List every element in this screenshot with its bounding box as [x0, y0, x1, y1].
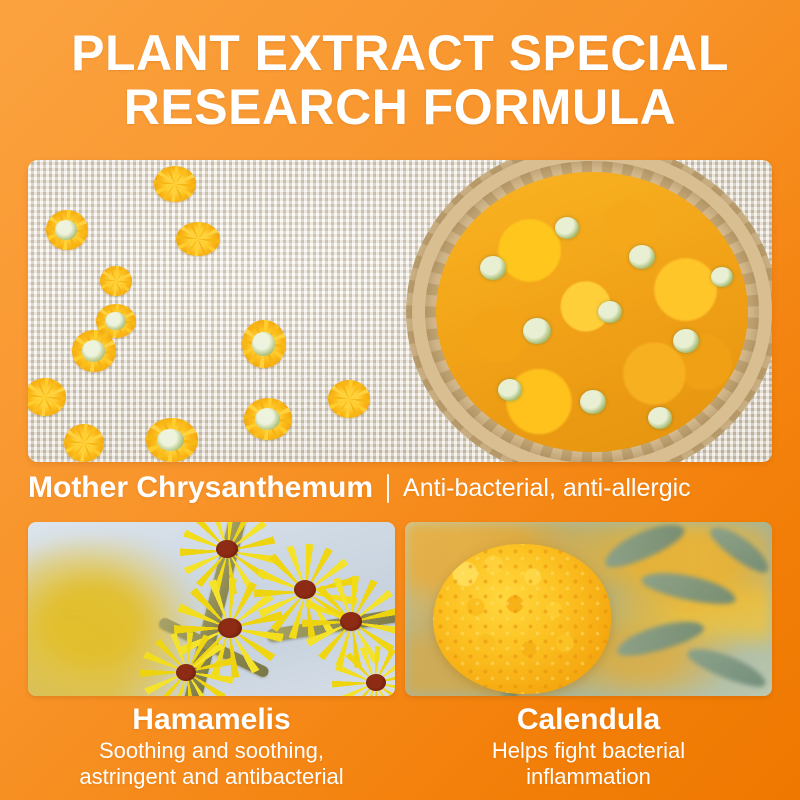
flower-bud [673, 329, 699, 353]
hamamelis-description-line-1: Soothing and soothing, [79, 738, 343, 764]
hamamelis-description: Soothing and soothing, astringent and an… [79, 738, 343, 790]
witch-hazel-center [216, 540, 238, 558]
calendula-title: Calendula [517, 702, 660, 738]
dried-flower [146, 418, 198, 462]
dried-flower [64, 424, 104, 462]
flower-bud [498, 379, 522, 401]
flower-bud [555, 217, 579, 239]
ingredient-card-hamamelis: Hamamelis Soothing and soothing, astring… [28, 522, 395, 790]
calendula-image [405, 522, 772, 696]
calendula-description: Helps fight bacterial inflammation [492, 738, 685, 790]
dried-flower [242, 320, 286, 368]
wicker-basket [406, 160, 772, 462]
witch-hazel-center [176, 664, 196, 681]
witch-hazel-center [366, 674, 386, 691]
hero-caption-title: Mother Chrysanthemum [28, 471, 373, 505]
dried-flower [328, 380, 370, 418]
witch-hazel-center [218, 618, 242, 638]
flower-bud [648, 407, 672, 429]
marigold-flower-head [433, 544, 611, 694]
dried-flower [154, 166, 196, 202]
title-line-1: PLANT EXTRACT SPECIAL [40, 26, 760, 80]
hero-caption: Mother Chrysanthemum Anti-bacterial, ant… [28, 466, 772, 510]
hamamelis-description-line-2: astringent and antibacterial [79, 764, 343, 790]
hero-photo-canvas [28, 160, 772, 462]
calendula-description-line-2: inflammation [492, 764, 685, 790]
dried-flower [176, 222, 220, 256]
witch-hazel-center [340, 612, 362, 631]
marigold-petal-texture [433, 544, 611, 694]
hero-caption-subtitle: Anti-bacterial, anti-allergic [403, 473, 691, 503]
flower-bud [523, 318, 551, 344]
hero-image [28, 160, 772, 462]
calendula-description-line-1: Helps fight bacterial [492, 738, 685, 764]
hamamelis-image [28, 522, 395, 696]
flower-bud [480, 256, 506, 280]
flower-bud [629, 245, 655, 269]
poster-root: PLANT EXTRACT SPECIAL RESEARCH FORMULA [0, 0, 800, 800]
dried-flower [46, 210, 88, 250]
dried-flower [100, 266, 132, 296]
basket-dried-flowers [436, 172, 748, 452]
ingredient-card-calendula: Calendula Helps fight bacterial inflamma… [405, 522, 772, 790]
caption-divider [387, 474, 389, 503]
page-title: PLANT EXTRACT SPECIAL RESEARCH FORMULA [0, 26, 800, 134]
ingredient-card-list: Hamamelis Soothing and soothing, astring… [28, 522, 772, 790]
flower-bud [598, 301, 622, 323]
hamamelis-title: Hamamelis [132, 702, 290, 738]
dried-flower [244, 398, 292, 440]
flower-bud [711, 267, 733, 287]
title-line-2: RESEARCH FORMULA [40, 80, 760, 134]
dried-flower [72, 330, 116, 372]
flower-bud [580, 390, 606, 414]
